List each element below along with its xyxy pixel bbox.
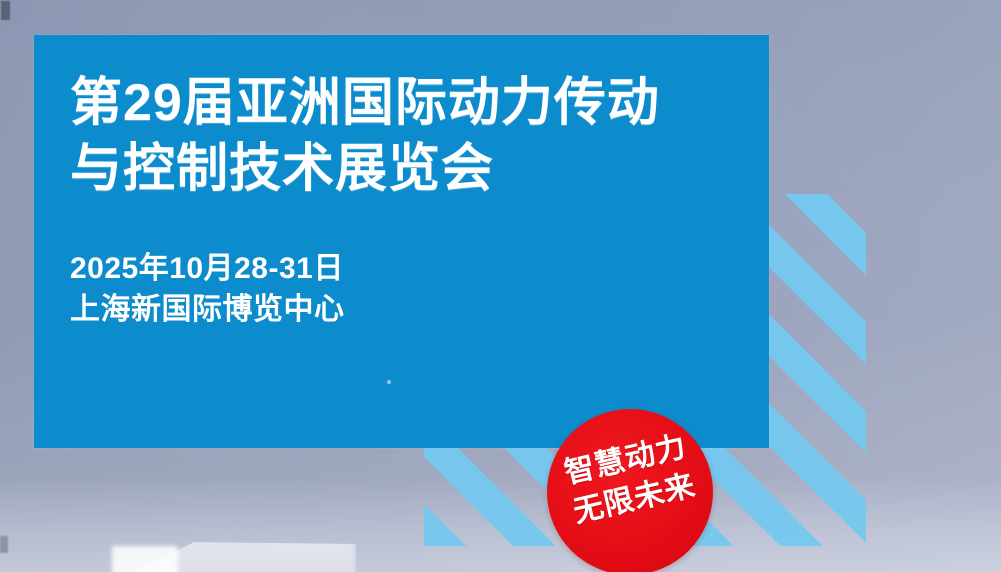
slogan-badge-text: 智慧动力 无限未来 bbox=[547, 422, 713, 536]
event-date: 2025年10月28-31日 bbox=[70, 248, 741, 289]
title-panel-content: 第29届亚洲国际动力传动 与控制技术展览会 2025年10月28-31日 上海新… bbox=[70, 71, 741, 331]
title-panel: 第29届亚洲国际动力传动 与控制技术展览会 2025年10月28-31日 上海新… bbox=[34, 35, 769, 448]
poster-canvas: 第29届亚洲国际动力传动 与控制技术展览会 2025年10月28-31日 上海新… bbox=[0, 0, 1001, 572]
poster-details: 2025年10月28-31日 上海新国际博览中心 bbox=[70, 248, 741, 331]
poster-title-line-2: 与控制技术展览会 bbox=[70, 137, 741, 203]
event-venue: 上海新国际博览中心 bbox=[70, 289, 741, 330]
panel-speck bbox=[387, 380, 391, 384]
poster-title-line-1: 第29届亚洲国际动力传动 bbox=[70, 71, 741, 137]
corner-artifact-bottom-left bbox=[0, 536, 8, 553]
slogan-badge: 智慧动力 无限未来 bbox=[547, 409, 713, 572]
booth-silhouette-detail bbox=[112, 546, 178, 572]
corner-artifact-top-left bbox=[1, 1, 10, 20]
